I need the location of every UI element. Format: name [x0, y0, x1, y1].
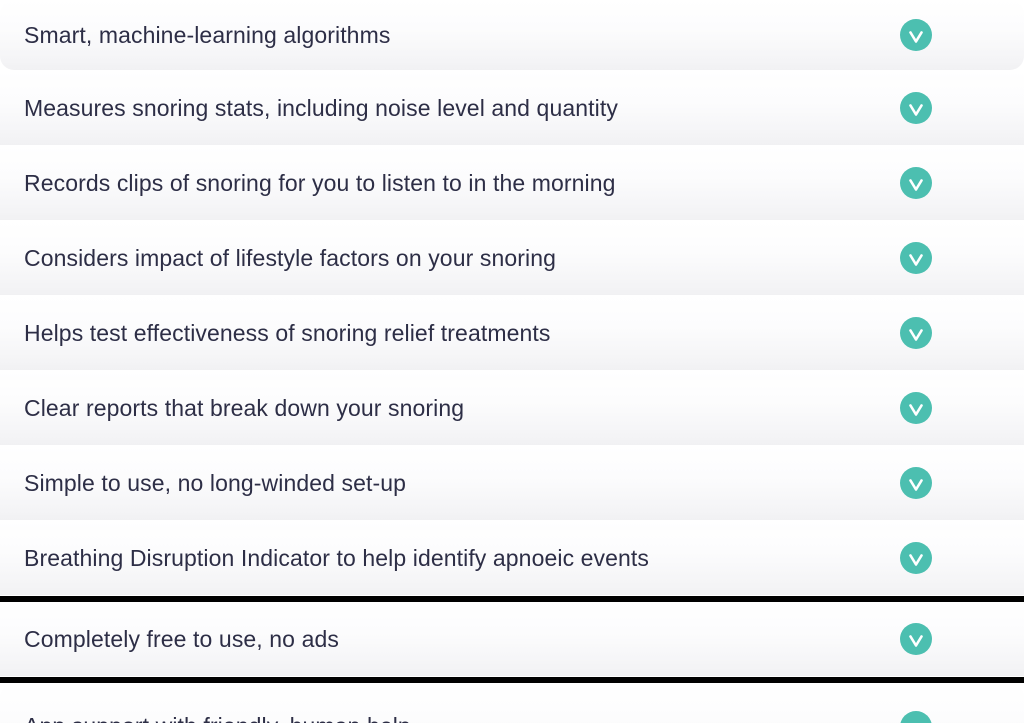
list-item[interactable]: Clear reports that break down your snori…: [0, 371, 1024, 445]
list-item-icon-cell: [900, 167, 1024, 199]
list-item-icon-cell: [900, 317, 1024, 349]
list-item[interactable]: Measures snoring stats, including noise …: [0, 71, 1024, 145]
list-item-icon-cell: [900, 711, 1024, 723]
check-circle-icon: [900, 92, 932, 124]
list-item-label: Records clips of snoring for you to list…: [0, 169, 900, 198]
list-item-icon-cell: [900, 467, 1024, 499]
list-item-icon-cell: [900, 392, 1024, 424]
list-item-label: App support with friendly, human help: [0, 712, 900, 723]
list-item-label: Simple to use, no long-winded set-up: [0, 469, 900, 498]
check-circle-icon: [900, 242, 932, 274]
list-item[interactable]: Simple to use, no long-winded set-up: [0, 446, 1024, 520]
list-item[interactable]: App support with friendly, human help: [0, 683, 1024, 723]
list-item-label: Breathing Disruption Indicator to help i…: [0, 544, 900, 573]
list-item-label: Smart, machine-learning algorithms: [0, 21, 900, 50]
check-circle-icon: [900, 19, 932, 51]
list-item[interactable]: Breathing Disruption Indicator to help i…: [0, 521, 1024, 595]
list-item-label: Considers impact of lifestyle factors on…: [0, 244, 900, 273]
list-item-icon-cell: [900, 623, 1024, 655]
list-item-icon-cell: [900, 242, 1024, 274]
check-circle-icon: [900, 467, 932, 499]
list-item[interactable]: Records clips of snoring for you to list…: [0, 146, 1024, 220]
list-item[interactable]: Considers impact of lifestyle factors on…: [0, 221, 1024, 295]
checklist-rows: Smart, machine-learning algorithms Measu…: [0, 0, 1024, 723]
list-item-label: Completely free to use, no ads: [0, 625, 900, 654]
list-item[interactable]: Helps test effectiveness of snoring reli…: [0, 296, 1024, 370]
check-circle-icon: [900, 392, 932, 424]
check-circle-icon: [900, 542, 932, 574]
list-item[interactable]: Completely free to use, no ads: [0, 602, 1024, 676]
list-item-icon-cell: [900, 19, 1024, 51]
list-item-icon-cell: [900, 542, 1024, 574]
list-item-icon-cell: [900, 92, 1024, 124]
list-item[interactable]: Smart, machine-learning algorithms: [0, 0, 1024, 70]
list-item-label: Helps test effectiveness of snoring reli…: [0, 319, 900, 348]
check-circle-icon: [900, 623, 932, 655]
check-circle-icon: [900, 711, 932, 723]
list-item-label: Clear reports that break down your snori…: [0, 394, 900, 423]
check-circle-icon: [900, 167, 932, 199]
list-item-label: Measures snoring stats, including noise …: [0, 94, 900, 123]
check-circle-icon: [900, 317, 932, 349]
feature-checklist: Smart, machine-learning algorithms Measu…: [0, 0, 1024, 723]
